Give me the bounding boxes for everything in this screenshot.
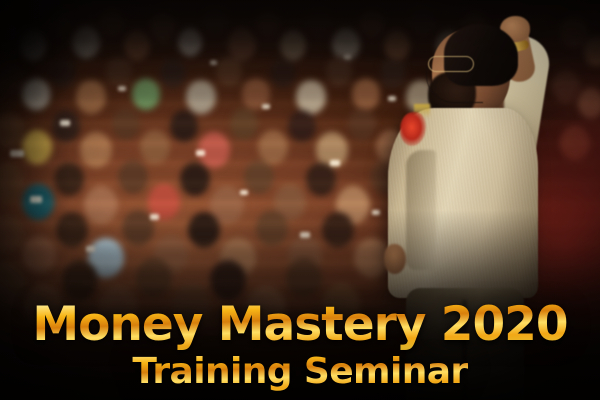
banner-main-title: Money Mastery 2020 xyxy=(0,300,600,350)
banner-title-block: Money Mastery 2020 Training Seminar xyxy=(0,300,600,392)
banner-subtitle: Training Seminar xyxy=(0,352,600,392)
seminar-promo-banner: Money Mastery 2020 Training Seminar xyxy=(0,0,600,400)
